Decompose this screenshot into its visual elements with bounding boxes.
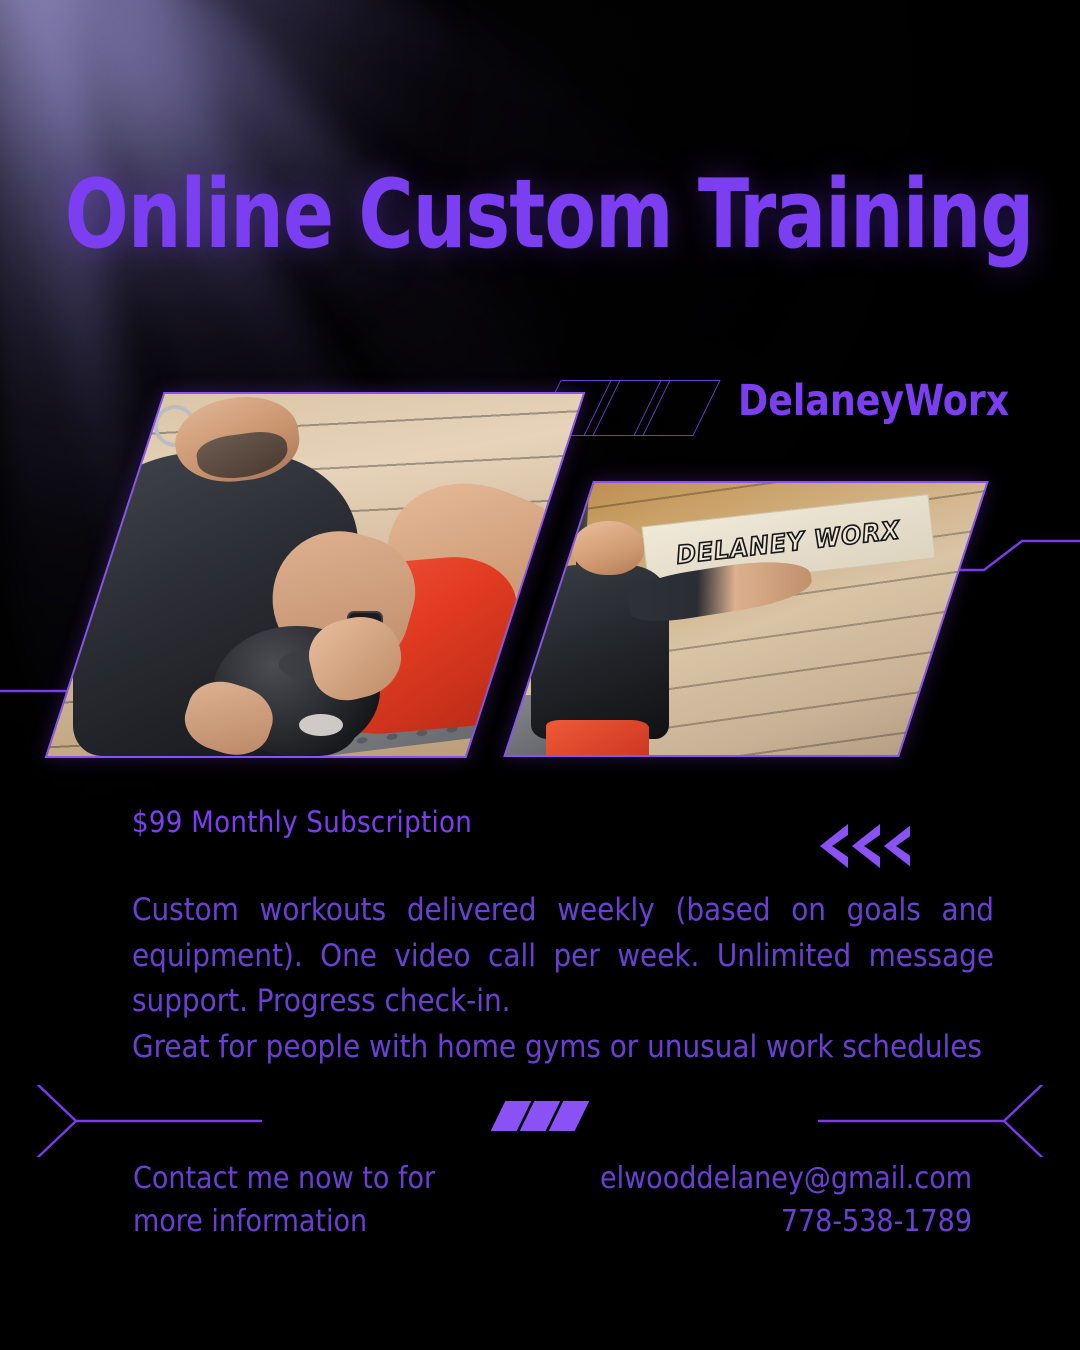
red-shorts — [546, 720, 648, 757]
gym-sign-text: DELANEY WORX — [674, 515, 901, 569]
section-divider — [0, 1085, 1080, 1157]
chevron-group — [820, 822, 910, 870]
head — [572, 521, 644, 575]
contact-phone[interactable]: 778-538-1789 — [532, 1201, 972, 1244]
body-last-line: Great for people with home gyms or unusu… — [132, 1025, 994, 1071]
photo-right: DELANEY WORX — [503, 481, 989, 757]
slam-ball-label — [299, 714, 342, 736]
chevron-left-icon — [820, 822, 910, 870]
contact-details: elwooddelaney@gmail.com 778-538-1789 — [532, 1158, 972, 1243]
brand-row: DelaneyWorx — [533, 378, 993, 442]
body-copy: Custom workouts delivered weekly (based … — [132, 888, 994, 1070]
left-bracket-icon — [0, 1085, 76, 1157]
price-line: $99 Monthly Subscription — [132, 805, 472, 839]
contact-prompt: Contact me now to for more information — [133, 1158, 463, 1243]
light-ray — [0, 0, 757, 58]
photo-left-scene — [46, 394, 584, 756]
body-paragraph: Custom workouts delivered weekly (based … — [132, 892, 994, 1019]
page-title: Online Custom Training — [65, 168, 1015, 263]
photo-right-scene: DELANEY WORX — [503, 483, 989, 755]
footer: Contact me now to for more information e… — [0, 1158, 1080, 1278]
photo-left — [45, 392, 586, 758]
contact-email[interactable]: elwooddelaney@gmail.com — [532, 1158, 972, 1201]
brand-name: DelaneyWorx — [738, 376, 1009, 426]
right-bracket-icon — [1004, 1085, 1080, 1157]
